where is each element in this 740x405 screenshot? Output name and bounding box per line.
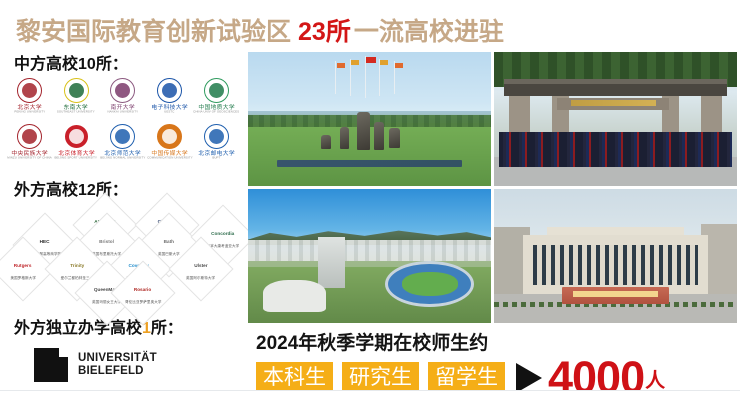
university-seal-icon [204,78,229,103]
university-name-en: PEKING UNIVERSITY [14,110,45,114]
chinese-heading-text: 中方高校 [14,56,78,73]
chinese-university-logo: 北京大学PEKING UNIVERSITY [6,78,53,122]
photo1-flag [337,63,345,68]
photo3-stadium [385,261,474,307]
university-logo-icon: Rosario [137,284,150,297]
bielefeld-wordmark: UNIVERSITÄT BIELEFELD [78,352,157,378]
university-name-en: CHINA UNIV OF GEOSCIENCES [194,110,240,114]
university-seal-icon [157,78,182,103]
foreign-section-heading: 外方高校12所： [14,176,246,200]
title-lead: 黎安国际教育创新试验区 [16,12,291,48]
university-name-en: NANKAI UNIVERSITY [108,110,139,114]
university-seal-icon [204,124,229,149]
photo2-graduates [499,132,732,167]
chinese-university-logo: 中国地质大学CHINA UNIV OF GEOSCIENCES [193,78,240,122]
university-wordmark: Bristol [100,240,115,245]
photo-minzu-university [494,189,737,323]
photo2-beam [504,84,728,96]
photo-aerial-campus [248,189,491,323]
university-name-en: COMMUNICATION UNIVERSITY [147,156,193,160]
university-seal-icon [17,78,42,103]
university-logo-icon: HEC [39,236,52,249]
chinese-university-logo: 中国传媒大学COMMUNICATION UNIVERSITY [146,124,193,168]
photo1-stone [321,135,331,149]
photo1-stone [389,128,400,148]
independent-heading-suffix: 所： [151,320,183,337]
photo3-buildings [248,240,491,261]
university-wordmark: Trinity [70,264,84,269]
title-highlight: 23所 [298,12,351,48]
university-name-cn: 美国罗格斯大学 [10,274,35,279]
left-column: 中方高校10所： 北京大学PEKING UNIVERSITY东南大学SOUTHE… [0,50,246,405]
university-name-cn: 哥伦比亚罗萨里奥大学 [125,298,161,303]
university-name-cn: 英国巴斯大学 [158,250,180,255]
photo4-name-sign [562,287,669,304]
photo1-flag [395,63,403,68]
university-name-en: SOUTHEAST UNIVERSITY [57,110,95,114]
university-seal-icon [64,78,89,103]
chinese-university-logo: 东南大学SOUTHEAST UNIVERSITY [53,78,100,122]
bottom-divider [0,390,740,405]
university-logo-icon: Trinity [71,260,84,273]
university-name-cn: 英国阿尔斯特大学 [186,274,215,279]
university-seal-icon [110,124,135,149]
university-wordmark: Rosario [134,288,151,293]
photo1-flag [380,60,388,65]
chinese-university-logo: 北京师范大学BEIJING NORMAL UNIVERSITY [100,124,147,168]
foreign-heading-count: 12 [78,182,96,199]
photo3-tower [318,237,345,288]
student-count-unit: 人 [645,364,665,393]
photo1-stone [340,127,349,149]
poster-root: 黎安国际教育创新试验区 23所 一流高校进驻 中方高校10所： 北京大学PEKI… [0,0,740,405]
photo4-window-columns [533,245,698,285]
university-name-cn: 英国布里斯托大学 [92,250,121,255]
university-name-en: BEIJING NORMAL UNIVERSITY [100,156,145,160]
title-tail: 一流高校进驻 [354,12,504,48]
chinese-section-heading: 中方高校10所： [14,50,246,74]
chinese-university-logo: 中央民族大学MINZU UNIVERSITY OF CHINA [6,124,53,168]
bielefeld-mark-icon [34,348,68,382]
university-seal-icon [157,124,182,149]
chinese-heading-count: 10 [78,56,96,73]
university-wordmark: Ulster [194,264,207,269]
photo1-flag [366,57,376,63]
university-seal-icon [110,78,135,103]
photo-monument-park [248,52,491,186]
photo1-stone [374,122,384,150]
photo1-flag [351,60,359,65]
university-wordmark: Rutgers [14,264,32,269]
photo2-gate-sign [557,98,669,110]
photo1-stone [357,112,370,150]
chinese-university-logo: 南开大学NANKAI UNIVERSITY [100,78,147,122]
university-seal-icon [64,124,89,149]
bielefeld-line2: BIELEFELD [78,365,157,378]
foreign-university-honeycomb: ALBERTA美国阿尔伯塔大学Glasgow英国格拉斯哥大学HEC法国巴黎高等商… [4,202,244,310]
foreign-heading-text: 外方高校 [14,182,78,199]
university-wordmark: Concordia [211,232,234,237]
independent-heading-text: 外方独立办学高校 [14,320,142,337]
university-seal-icon [17,124,42,149]
university-logo-icon: Ulster [195,260,208,273]
university-name-en: BEIJING SPORT UNIVERSITY [55,156,98,160]
stats-headline: 2024年秋季学期在校师生约 [256,328,736,355]
chinese-heading-suffix: 所： [96,56,128,73]
photo-campus-gate-graduates [494,52,737,186]
bielefeld-line1: UNIVERSITÄT [78,352,157,365]
chinese-university-grid: 北京大学PEKING UNIVERSITY东南大学SOUTHEAST UNIVE… [6,78,240,168]
bielefeld-logo: UNIVERSITÄT BIELEFELD [34,348,246,382]
arrow-right-icon [516,363,542,393]
university-name-en: BUPT [213,156,221,160]
chinese-university-logo: 北京体育大学BEIJING SPORT UNIVERSITY [53,124,100,168]
university-logo-icon: Concordia [217,228,230,241]
photo1-caption-band [277,160,462,167]
university-wordmark: HEC [40,240,50,245]
university-logo-icon: Bath [163,236,176,249]
chinese-university-logo: 电子科技大学UESTC [146,78,193,122]
university-name-en: UESTC [165,110,175,114]
photo3-curved-building [263,280,326,312]
page-title: 黎安国际教育创新试验区 23所 一流高校进驻 [16,12,716,48]
chinese-university-logo: 北京邮电大学BUPT [193,124,240,168]
independent-section-heading: 外方独立办学高校1所： [14,314,246,338]
university-wordmark: Bath [164,240,174,245]
university-logo-icon: Bristol [101,236,114,249]
photo-grid [248,52,737,323]
university-logo-icon: Rutgers [17,260,30,273]
university-name-en: MINZU UNIVERSITY OF CHINA [7,156,52,160]
